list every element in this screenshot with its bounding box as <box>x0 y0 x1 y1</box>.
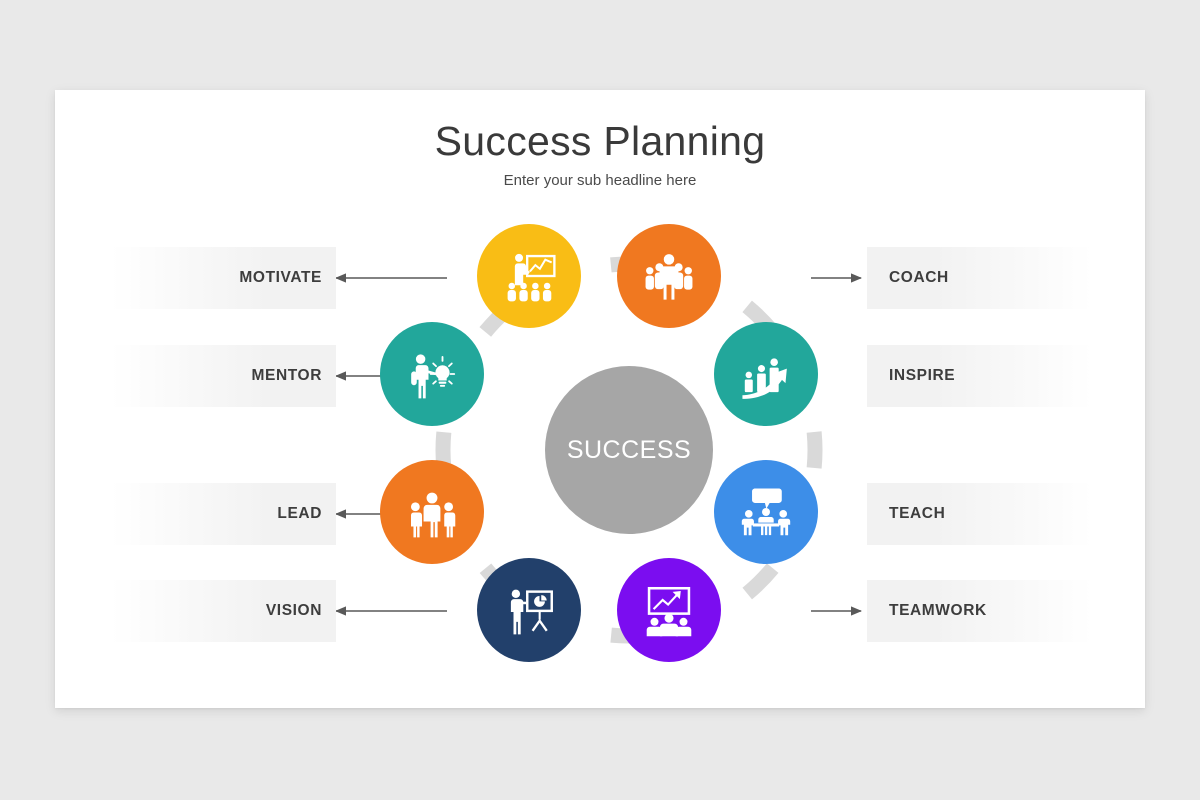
label-lead: LEAD <box>277 505 322 523</box>
label-mentor: MENTOR <box>252 367 322 385</box>
label-plate-motivate[interactable]: MOTIVATE <box>111 247 336 309</box>
label-coach: COACH <box>889 269 949 287</box>
node-motivate[interactable] <box>477 224 581 328</box>
presenter-pie-easel-icon <box>501 582 557 638</box>
center-hub[interactable]: SUCCESS <box>545 366 713 534</box>
three-people-icon <box>404 484 460 540</box>
label-teamwork: TEAMWORK <box>889 602 987 620</box>
node-vision[interactable] <box>477 558 581 662</box>
node-teach[interactable] <box>714 460 818 564</box>
slide-card: Success Planning Enter your sub headline… <box>55 90 1145 708</box>
leader-group-icon <box>641 248 697 304</box>
label-plate-teach[interactable]: TEACH <box>867 483 1092 545</box>
person-lightbulb-icon <box>404 346 460 402</box>
label-vision: VISION <box>266 602 322 620</box>
label-plate-coach[interactable]: COACH <box>867 247 1092 309</box>
label-teach: TEACH <box>889 505 945 523</box>
presenter-chart-audience-icon <box>500 247 558 305</box>
label-plate-teamwork[interactable]: TEAMWORK <box>867 580 1092 642</box>
label-plate-lead[interactable]: LEAD <box>111 483 336 545</box>
success-planning-diagram: SUCCESS <box>55 90 1145 708</box>
node-inspire[interactable] <box>714 322 818 426</box>
label-plate-vision[interactable]: VISION <box>111 580 336 642</box>
node-teamwork[interactable] <box>617 558 721 662</box>
node-lead[interactable] <box>380 460 484 564</box>
label-motivate: MOTIVATE <box>239 269 322 287</box>
slide-canvas: Success Planning Enter your sub headline… <box>0 0 1200 800</box>
meeting-speech-bubble-icon <box>737 483 795 541</box>
label-inspire: INSPIRE <box>889 367 955 385</box>
growth-arrow-people-icon <box>737 345 795 403</box>
label-plate-inspire[interactable]: INSPIRE <box>867 345 1092 407</box>
arrow-connectors-right <box>811 278 921 611</box>
center-hub-label: SUCCESS <box>567 436 691 465</box>
node-coach[interactable] <box>617 224 721 328</box>
whiteboard-team-chart-icon <box>640 581 698 639</box>
node-mentor[interactable] <box>380 322 484 426</box>
label-plate-mentor[interactable]: MENTOR <box>111 345 336 407</box>
